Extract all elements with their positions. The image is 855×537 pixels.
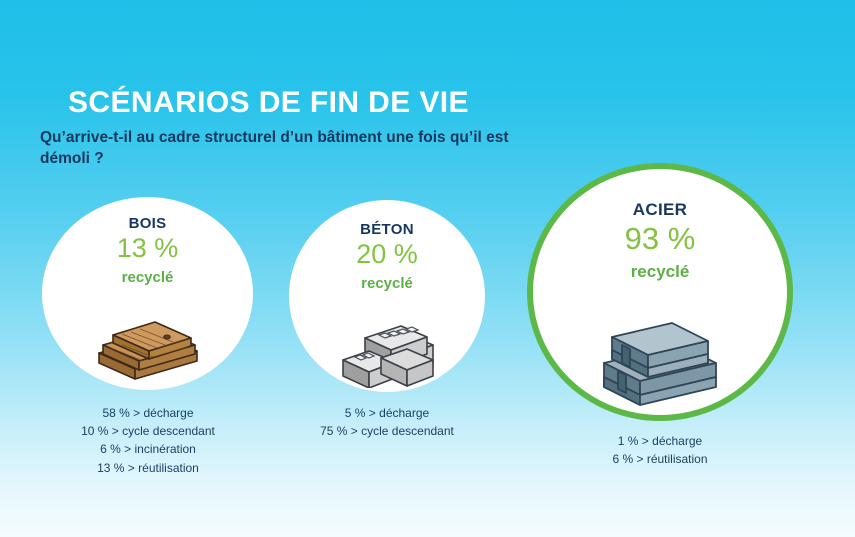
material-percent-bois: 13 % xyxy=(42,233,253,264)
material-recycled-label-acier: recyclé xyxy=(533,262,787,282)
icon-container-acier xyxy=(533,297,787,407)
material-percent-beton: 20 % xyxy=(289,239,485,270)
breakdown-list-beton: 5 % > décharge 75 % > cycle descendant xyxy=(288,404,486,440)
wood-planks-icon xyxy=(91,307,205,383)
material-percent-acier: 93 % xyxy=(533,221,787,257)
breakdown-item: 13 % > réutilisation xyxy=(48,459,248,477)
infographic-canvas: SCÉNARIOS DE FIN DE VIE Qu’arrive-t-il a… xyxy=(0,0,855,537)
material-card-beton: BÉTON 20 % recyclé xyxy=(289,200,485,392)
breakdown-item: 1 % > décharge xyxy=(560,432,760,450)
material-recycled-label-bois: recyclé xyxy=(42,269,253,286)
material-card-bois: BOIS 13 % recyclé xyxy=(42,197,253,390)
material-recycled-label-beton: recyclé xyxy=(289,275,485,292)
icon-container-beton xyxy=(289,308,485,388)
material-name-beton: BÉTON xyxy=(289,221,485,238)
concrete-blocks-icon xyxy=(335,308,439,388)
icon-container-bois xyxy=(42,307,253,383)
material-card-acier: ACIER 93 % recyclé xyxy=(527,163,793,421)
breakdown-item: 10 % > cycle descendant xyxy=(48,422,248,440)
material-name-acier: ACIER xyxy=(533,200,787,220)
breakdown-item: 58 % > décharge xyxy=(48,404,248,422)
breakdown-item: 6 % > réutilisation xyxy=(560,450,760,468)
material-name-bois: BOIS xyxy=(42,215,253,232)
page-title: SCÉNARIOS DE FIN DE VIE xyxy=(68,86,469,120)
page-subtitle: Qu’arrive-t-il au cadre structurel d’un … xyxy=(40,128,510,170)
breakdown-item: 75 % > cycle descendant xyxy=(288,422,486,440)
breakdown-item: 6 % > incinération xyxy=(48,440,248,458)
breakdown-list-bois: 58 % > décharge 10 % > cycle descendant … xyxy=(48,404,248,477)
steel-beams-icon xyxy=(592,297,728,407)
breakdown-item: 5 % > décharge xyxy=(288,404,486,422)
breakdown-list-acier: 1 % > décharge 6 % > réutilisation xyxy=(560,432,760,468)
